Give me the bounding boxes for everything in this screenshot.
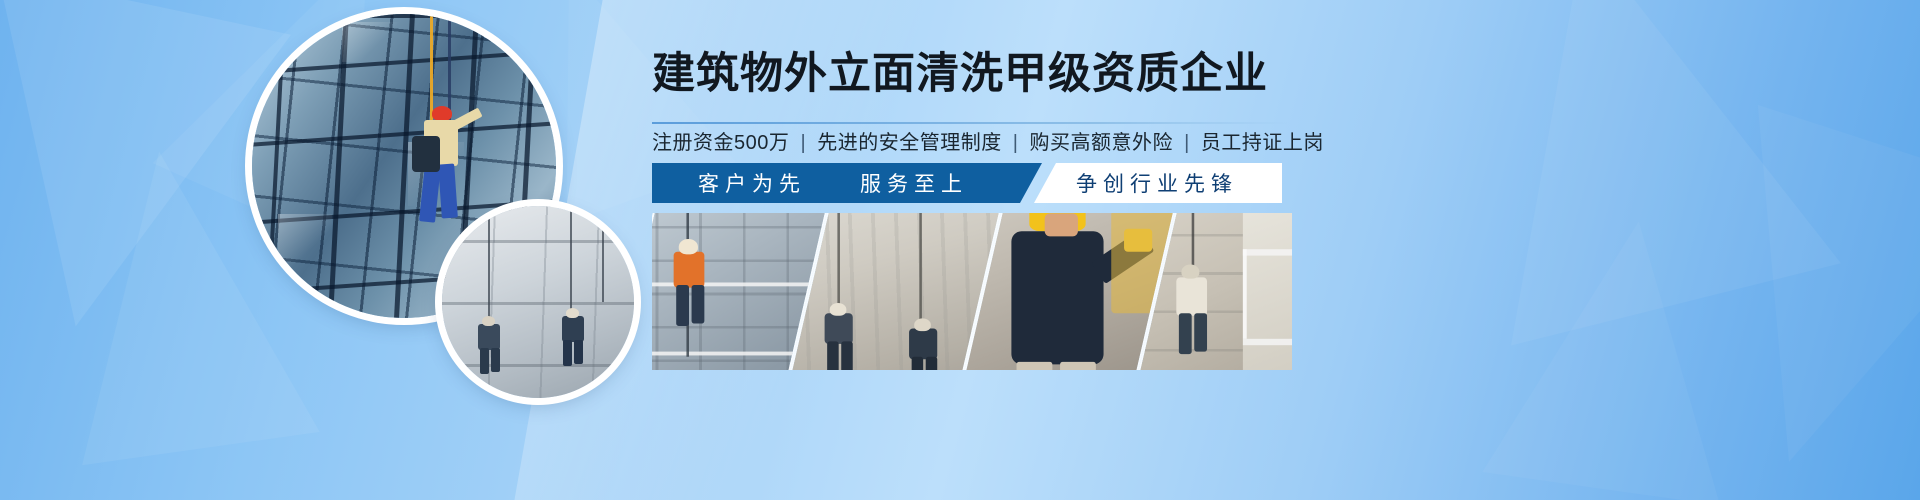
feature-item: 先进的安全管理制度 (817, 132, 1002, 154)
slogan-item-3: 争创行业先锋 (1076, 168, 1238, 198)
grey-facade-image (442, 206, 634, 398)
title-divider (652, 122, 1288, 124)
slogan-item-2: 服务至上 (860, 168, 968, 198)
feature-list: 注册资金500万 | 先进的安全管理制度 | 购买高额意外险 | 员工持证上岗 (652, 128, 1292, 158)
slogan-bar: 客户为先 服务至上 争创行业先锋 (652, 163, 1282, 203)
feature-item: 注册资金500万 (652, 132, 789, 154)
slogan-blue-segment: 客户为先 服务至上 (652, 163, 1042, 203)
circle-photo-grey-facade (442, 206, 634, 398)
feature-item: 购买高额意外险 (1030, 132, 1174, 154)
feature-separator: | (800, 132, 806, 154)
promo-banner: 建筑物外立面清洗甲级资质企业 注册资金500万 | 先进的安全管理制度 | 购买… (0, 0, 1920, 500)
feature-separator: | (1013, 132, 1019, 154)
slogan-white-segment: 争创行业先锋 (1034, 163, 1282, 203)
photo-strip (652, 213, 1292, 370)
feature-item: 员工持证上岗 (1201, 132, 1324, 154)
page-title: 建筑物外立面清洗甲级资质企业 (652, 52, 1292, 97)
feature-separator: | (1184, 132, 1190, 154)
background-triangle-icon (1482, 205, 1757, 500)
slogan-item-1: 客户为先 (698, 168, 806, 198)
